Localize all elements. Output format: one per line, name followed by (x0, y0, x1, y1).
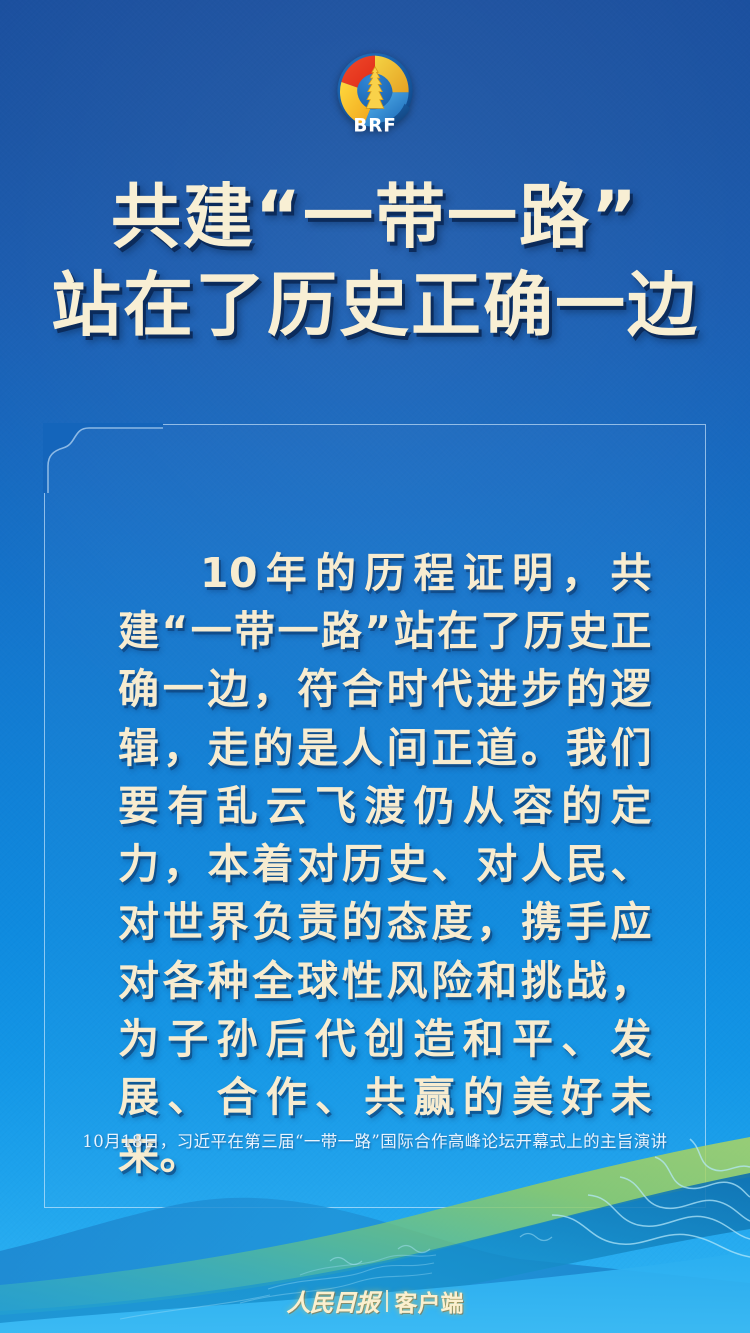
svg-text:BRF: BRF (353, 116, 396, 137)
headline-line-2: 站在了历史正确一边 (0, 266, 750, 344)
brand-name-peoples-daily: 人民日报 (287, 1283, 379, 1318)
brf-emblem-icon: BRF (327, 46, 423, 142)
quote-body-text: 10年的历程证明，共建“一带一路”站在了历史正确一边，符合时代进步的逻辑，走的是… (118, 544, 652, 1184)
poster-headline: 共建“一带一路” 站在了历史正确一边 (0, 178, 750, 345)
publisher-brand[interactable]: 人民日报 客户端 (0, 1283, 750, 1318)
brand-separator (386, 1290, 388, 1312)
poster-canvas: BRF 共建“一带一路” 站在了历史正确一边 10年的历程证明，共建“一带一路”… (0, 0, 750, 1333)
brand-name-client-app: 客户端 (395, 1284, 464, 1318)
card-corner-notch (43, 423, 163, 493)
brf-logo-container: BRF (0, 46, 750, 142)
headline-line-1: 共建“一带一路” (0, 178, 750, 256)
